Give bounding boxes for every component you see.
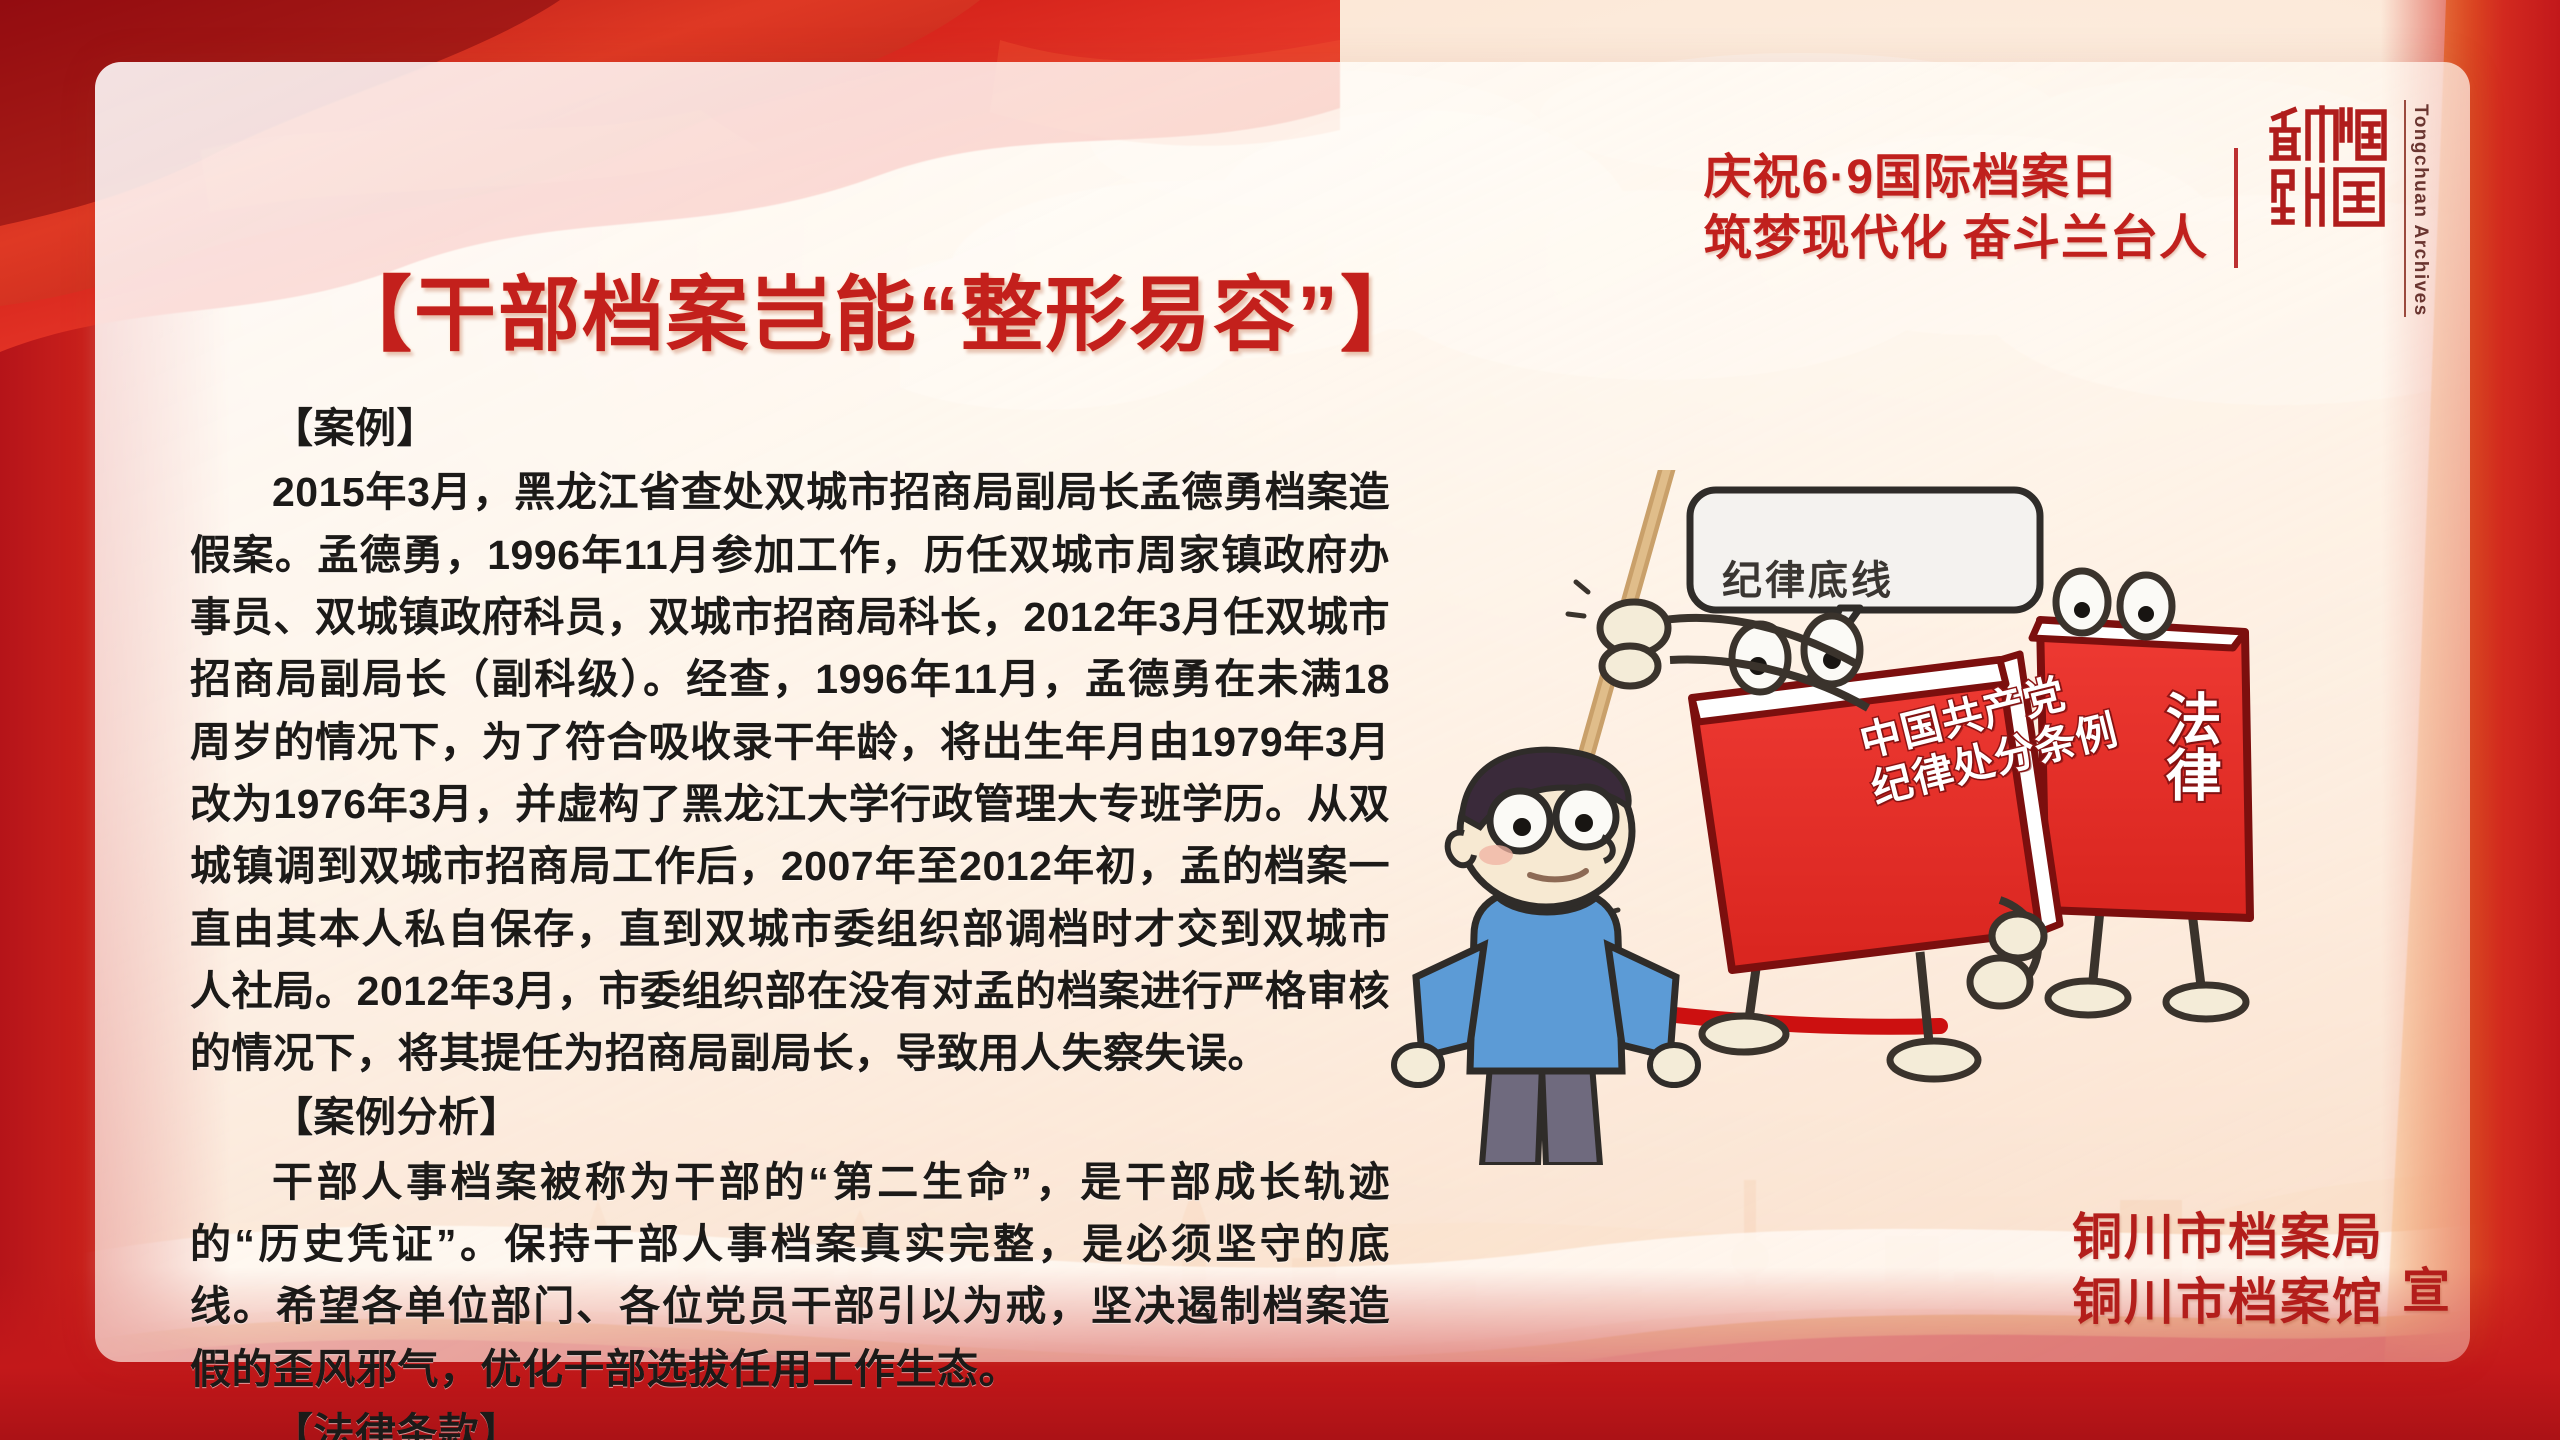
cartoon-man [1370, 745, 1750, 1165]
section-heading-law: 【法律条款】 [190, 1402, 1390, 1440]
section-heading-analysis: 【案例分析】 [190, 1086, 1390, 1148]
poster-canvas: 庆祝6·9国际档案日 筑梦现代化 奋斗兰台人 [0, 0, 2560, 1440]
speech-bubble-label: 纪律底线 [1722, 548, 1894, 606]
archive-day-slogan: 庆祝6·9国际档案日 筑梦现代化 奋斗兰台人 [1704, 147, 2208, 270]
publisher-line-1: 铜川市档案局 [2072, 1205, 2384, 1270]
slogan-line-1: 庆祝6·9国际档案日 [1704, 147, 2208, 208]
tongchuan-archives-logo: Tongchuan Archives [2264, 100, 2430, 317]
article-body: 【案例】 2015年3月，黑龙江省查处双城市招商局副局长孟德勇档案造假案。孟德勇… [190, 395, 1390, 1440]
publisher-footer: 铜川市档案局 铜川市档案馆 宣 [2072, 1205, 2450, 1335]
book-right-title: 法律 [2161, 690, 2218, 802]
logo-english-label: Tongchuan Archives [2404, 100, 2430, 317]
header-branding: 庆祝6·9国际档案日 筑梦现代化 奋斗兰台人 [1704, 100, 2430, 317]
page-title: 【干部档案岂能“整形易容”】 [330, 248, 1424, 367]
section-heading-case: 【案例】 [190, 397, 1390, 459]
seal-script-logo-icon [2264, 100, 2396, 232]
publisher-names: 铜川市档案局 铜川市档案馆 [2072, 1205, 2384, 1335]
paragraph-analysis: 干部人事档案被称为干部的“第二生命”，是干部成长轨迹的“历史凭证”。保持干部人事… [190, 1151, 1390, 1400]
divider [2234, 148, 2238, 268]
paragraph-case: 2015年3月，黑龙江省查处双城市招商局副局长孟德勇档案造假案。孟德勇，1996… [190, 461, 1390, 1084]
slogan-line-2: 筑梦现代化 奋斗兰台人 [1704, 208, 2208, 269]
publisher-line-2: 铜川市档案馆 [2072, 1270, 2384, 1335]
publisher-suffix: 宣 [2402, 1251, 2450, 1335]
